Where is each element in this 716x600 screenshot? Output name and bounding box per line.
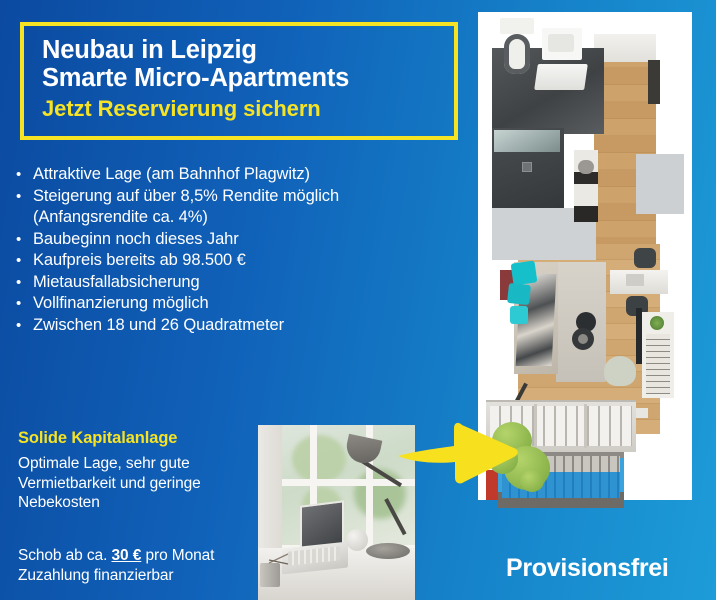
bullet-icon: • xyxy=(16,315,33,337)
capital-body: Optimale Lage, sehr gute Vermietbarkeit … xyxy=(18,454,250,513)
capital-body-line-3: Nebekosten xyxy=(18,493,250,513)
financing-line-1: Schob ab ca. 30 € pro Monat xyxy=(18,546,258,566)
books xyxy=(646,334,670,394)
bullet-icon: • xyxy=(16,186,33,208)
bathtub xyxy=(534,64,588,90)
list-item: • Baubeginn noch dieses Jahr xyxy=(16,229,446,251)
pillow xyxy=(510,306,528,324)
plant-icon xyxy=(650,316,664,330)
foliage-shape xyxy=(292,435,346,483)
list-item-label: Vollfinanzierung möglich xyxy=(33,293,209,315)
headline-line-1: Neubau in Leipzig xyxy=(42,36,454,64)
pillow xyxy=(511,260,538,285)
list-item-label: Mietausfallabsicherung xyxy=(33,272,200,294)
bullet-icon: • xyxy=(16,229,33,251)
entry-dark-wall xyxy=(648,60,660,104)
list-item-label: Baubeginn noch dieses Jahr xyxy=(33,229,239,251)
advertisement-canvas: Neubau in Leipzig Smarte Micro-Apartment… xyxy=(0,0,716,600)
toilet-tank xyxy=(500,18,534,34)
list-item-continuation: (Anfangsrendite ca. 4%) xyxy=(16,207,446,229)
provisionsfrei-label: Provisionsfrei xyxy=(506,554,669,583)
list-item: • Zwischen 18 und 26 Quadratmeter xyxy=(16,315,446,337)
list-item: • Steigerung auf über 8,5% Rendite mögli… xyxy=(16,186,446,208)
capital-body-line-2: Vermietbarkeit und geringe xyxy=(18,474,250,494)
pillow xyxy=(507,283,531,305)
shower-glass xyxy=(494,130,560,152)
pen-cup xyxy=(260,563,280,587)
side-table-top xyxy=(578,334,588,344)
bullet-icon: • xyxy=(16,272,33,294)
financing-prefix: Schob ab ca. xyxy=(18,547,112,564)
plant-icon xyxy=(520,470,544,492)
list-item-label: Attraktive Lage (am Bahnhof Plagwitz) xyxy=(33,164,310,186)
sink-basin xyxy=(548,34,574,52)
capital-investment-block: Solide Kapitalanlage Optimale Lage, sehr… xyxy=(18,428,250,513)
chair xyxy=(634,248,656,268)
yellow-arrow-icon xyxy=(398,412,522,490)
headline-subline: Jetzt Reservierung sichern xyxy=(42,96,454,122)
list-item-label: Zwischen 18 und 26 Quadratmeter xyxy=(33,315,284,337)
financing-suffix: pro Monat xyxy=(141,547,214,564)
cooktop-icon xyxy=(578,160,594,174)
lamp-base xyxy=(366,543,410,559)
list-item-label: Kaufpreis bereits ab 98.500 € xyxy=(33,250,246,272)
list-item: • Mietausfallabsicherung xyxy=(16,272,446,294)
headline-box: Neubau in Leipzig Smarte Micro-Apartment… xyxy=(20,22,458,140)
bullet-icon: • xyxy=(16,250,33,272)
headline-line-2: Smarte Micro-Apartments xyxy=(42,64,454,92)
list-item-label: Steigerung auf über 8,5% Rendite möglich xyxy=(33,186,339,208)
list-item: • Vollfinanzierung möglich xyxy=(16,293,446,315)
bullet-icon: • xyxy=(16,293,33,315)
financing-line-2: Zuzahlung finanzierbar xyxy=(18,566,258,586)
wall-block-right xyxy=(636,154,684,214)
financing-amount: 30 € xyxy=(112,547,142,564)
financing-block: Schob ab ca. 30 € pro Monat Zuzahlung fi… xyxy=(18,546,258,585)
balcony-divider xyxy=(534,404,537,448)
pens-icon xyxy=(268,553,290,565)
bullet-icon: • xyxy=(16,164,33,186)
list-item: • Attraktive Lage (am Bahnhof Plagwitz) xyxy=(16,164,446,186)
benefits-list: • Attraktive Lage (am Bahnhof Plagwitz) … xyxy=(16,164,446,336)
desk-photo xyxy=(258,425,415,600)
list-item: • Kaufpreis bereits ab 98.500 € xyxy=(16,250,446,272)
armchair xyxy=(604,356,636,386)
headline-inner: Neubau in Leipzig Smarte Micro-Apartment… xyxy=(24,26,454,122)
shower-drain xyxy=(522,162,532,172)
desk-laptop xyxy=(626,274,644,286)
capital-title: Solide Kapitalanlage xyxy=(18,428,250,448)
balcony-divider xyxy=(584,404,587,448)
toilet-icon xyxy=(504,34,530,74)
decorative-sphere xyxy=(346,529,368,551)
capital-body-line-1: Optimale Lage, sehr gute xyxy=(18,454,250,474)
